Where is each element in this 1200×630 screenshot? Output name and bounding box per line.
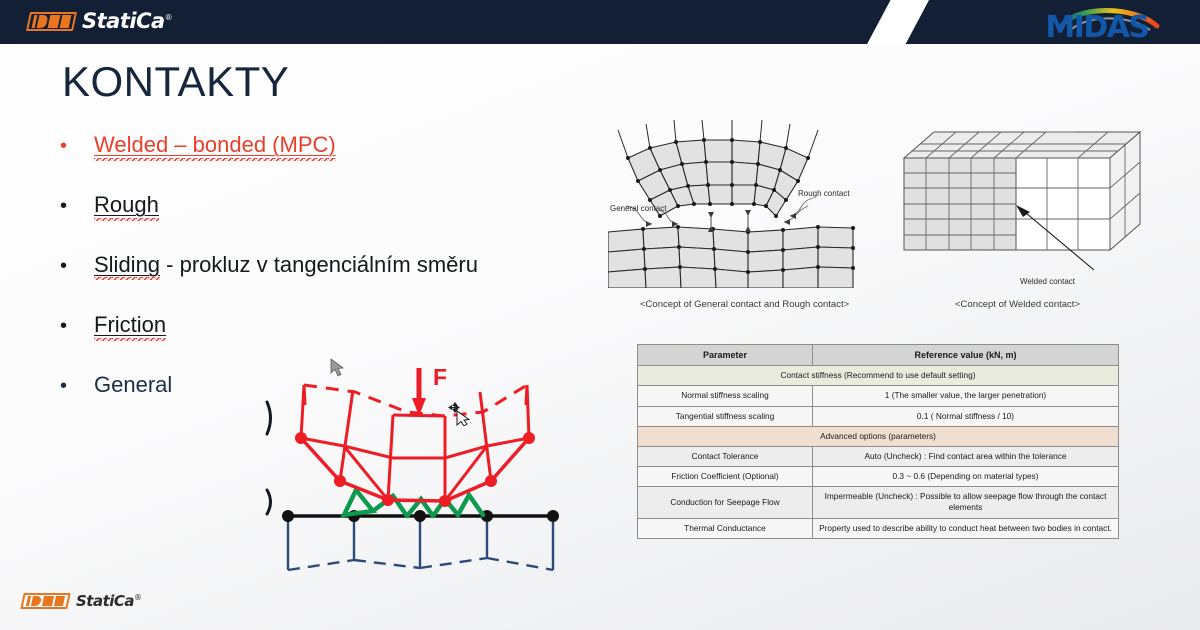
- table-row: Normal stiffness scaling 1 (The smaller …: [638, 386, 1119, 406]
- welded-contact-figure: Welded contact: [890, 118, 1155, 288]
- block-figure-svg: Welded contact: [890, 118, 1155, 288]
- lower-slab-mesh: [608, 227, 853, 288]
- row-value: 1 (The smaller value, the larger penetra…: [813, 386, 1119, 406]
- bullet-text-underlined-part: Sliding: [94, 252, 160, 280]
- bullet-text: Rough: [94, 192, 159, 221]
- table-row: Thermal Conductance Property used to des…: [638, 518, 1119, 538]
- row-value: Impermeable (Uncheck) : Possible to allo…: [813, 487, 1119, 518]
- bullet-marker: •: [60, 196, 94, 216]
- bullet-marker: •: [60, 376, 94, 396]
- statica-text: StatiCa: [82, 9, 165, 33]
- bullet-marker: •: [60, 256, 94, 276]
- idea-statica-logo-footer: StatiCa®: [22, 592, 142, 610]
- row-value: 0.3 ~ 0.6 (Depending on material types): [813, 467, 1119, 487]
- beam-diagram-svg: F: [255, 350, 585, 620]
- table-row: Conduction for Seepage Flow Impermeable …: [638, 487, 1119, 518]
- arrow-cursor: [330, 358, 346, 378]
- row-parameter: Tangential stiffness scaling: [638, 406, 813, 426]
- rough-contact-label: Rough contact: [798, 189, 850, 198]
- registered-mark: ®: [134, 593, 142, 602]
- table-row: Friction Coefficient (Optional) 0.3 ~ 0.…: [638, 467, 1119, 487]
- block-figure-caption: <Concept of Welded contact>: [955, 299, 1080, 310]
- mesh-figure-caption: <Concept of General contact and Rough co…: [640, 299, 849, 310]
- statica-wordmark: StatiCa®: [82, 9, 172, 33]
- idea-statica-logo-header: StatiCa®: [28, 9, 172, 33]
- force-arrow: [412, 368, 426, 416]
- paren-annotation-bottom: [267, 490, 271, 514]
- bullet-text-rest: - prokluz v tangenciálním směru: [160, 252, 478, 277]
- table-header-row: Parameter Reference value (kN, m): [638, 345, 1119, 366]
- mesh-figure-svg: General contact Rough contact: [608, 118, 873, 288]
- welded-contact-label: Welded contact: [1020, 277, 1076, 286]
- row-parameter: Conduction for Seepage Flow: [638, 487, 813, 518]
- general-rough-contact-figure: General contact Rough contact: [608, 118, 873, 288]
- contact-arrow-stems: [711, 210, 748, 232]
- force-label: F: [433, 364, 447, 390]
- table-section-row: Contact stiffness (Recommend to use defa…: [638, 366, 1119, 386]
- table-section-row: Advanced options (parameters): [638, 426, 1119, 446]
- list-item: • Rough: [60, 192, 580, 252]
- statica-wordmark: StatiCa®: [76, 592, 142, 610]
- row-parameter: Contact Tolerance: [638, 446, 813, 466]
- page-title: KONTAKTY: [62, 58, 289, 106]
- bullet-text: Friction: [94, 312, 166, 341]
- diagonal-stripe-decoration: [860, 0, 933, 44]
- list-item: • Sliding - prokluz v tangenciálním směr…: [60, 252, 580, 312]
- table-header-parameter: Parameter: [638, 345, 813, 366]
- bullet-text: Welded – bonded (MPC): [94, 132, 336, 161]
- move-cursor: [448, 402, 470, 426]
- undeformed-beam-group: [288, 516, 553, 570]
- row-value: Property used to describe ability to con…: [813, 518, 1119, 538]
- table-row: Tangential stiffness scaling 0.1 ( Norma…: [638, 406, 1119, 426]
- contact-parameters-table: Parameter Reference value (kN, m) Contac…: [637, 344, 1119, 539]
- idea-mark-icon: [20, 593, 70, 609]
- row-parameter: Thermal Conductance: [638, 518, 813, 538]
- registered-mark: ®: [165, 13, 173, 22]
- section-advanced-options: Advanced options (parameters): [638, 426, 1119, 446]
- general-contact-label: General contact: [610, 204, 667, 213]
- bullet-text: Sliding - prokluz v tangenciálním směru: [94, 252, 478, 278]
- slide: StatiCa® MIDAS KONTAKTY: [0, 0, 1200, 630]
- list-item: • Welded – bonded (MPC): [60, 132, 580, 192]
- midas-wordmark: MIDAS: [1022, 13, 1172, 43]
- bullet-marker: •: [60, 316, 94, 336]
- table-header-value: Reference value (kN, m): [813, 345, 1119, 366]
- bullet-marker: •: [60, 136, 94, 156]
- top-bar: StatiCa® MIDAS: [0, 0, 1200, 44]
- row-value: Auto (Uncheck) : Find contact area withi…: [813, 446, 1119, 466]
- paren-annotation-top: [267, 402, 271, 434]
- table-row: Contact Tolerance Auto (Uncheck) : Find …: [638, 446, 1119, 466]
- row-parameter: Friction Coefficient (Optional): [638, 467, 813, 487]
- statica-text: StatiCa: [76, 592, 134, 610]
- row-parameter: Normal stiffness scaling: [638, 386, 813, 406]
- row-value: 0.1 ( Normal stiffness / 10): [813, 406, 1119, 426]
- midas-logo: MIDAS: [1022, 2, 1172, 42]
- idea-mark-icon: [26, 12, 77, 31]
- section-contact-stiffness: Contact stiffness (Recommend to use defa…: [638, 366, 1119, 386]
- bullet-text: General: [94, 372, 172, 398]
- beam-contact-diagram: F: [255, 350, 585, 620]
